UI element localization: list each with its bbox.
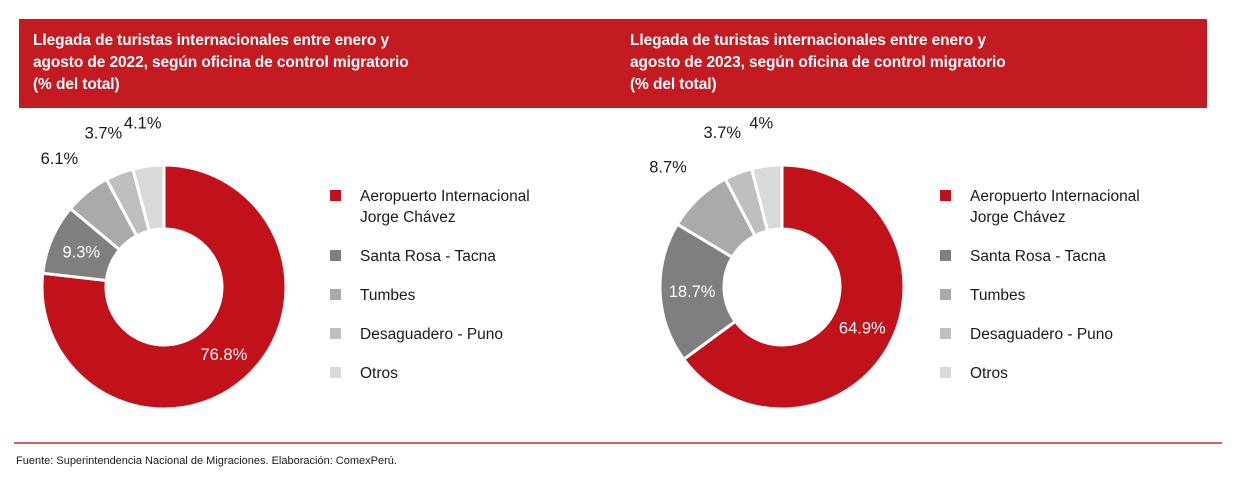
slice-value-label: 64.9% bbox=[839, 320, 886, 338]
legend-item-label: Otros bbox=[360, 363, 398, 384]
legend-item[interactable]: Aeropuerto Internacional Jorge Chávez bbox=[940, 186, 1210, 228]
legend-item[interactable]: Tumbes bbox=[940, 285, 1210, 306]
slice-value-label: 3.7% bbox=[85, 125, 123, 143]
slice-value-label: 8.7% bbox=[649, 158, 687, 176]
header-banner: Llegada de turistas internacionales entr… bbox=[19, 19, 1207, 108]
donut-chart-2022: 76.8%9.3%6.1%3.7%4.1% bbox=[14, 108, 314, 438]
legend-swatch-icon bbox=[940, 367, 951, 378]
legend-swatch-icon bbox=[940, 289, 951, 300]
legend-swatch-icon bbox=[940, 328, 951, 339]
legend-item[interactable]: Aeropuerto Internacional Jorge Chávez bbox=[330, 186, 600, 228]
legend-item-label: Desaguadero - Puno bbox=[970, 324, 1113, 345]
legend-item[interactable]: Santa Rosa - Tacna bbox=[330, 246, 600, 267]
charts-area: 76.8%9.3%6.1%3.7%4.1% Aeropuerto Interna… bbox=[0, 108, 1236, 438]
chart-title-2022: Llegada de turistas internacionales entr… bbox=[33, 30, 613, 96]
legend-item[interactable]: Otros bbox=[940, 363, 1210, 384]
chart-panel-2023: 64.9%18.7%8.7%3.7%4% Aeropuerto Internac… bbox=[618, 108, 1236, 438]
legend-swatch-icon bbox=[940, 250, 951, 261]
donut-chart-2023: 64.9%18.7%8.7%3.7%4% bbox=[632, 108, 932, 438]
legend-item-label: Tumbes bbox=[970, 285, 1025, 306]
slice-value-label: 4% bbox=[749, 114, 773, 132]
chart-title-2023: Llegada de turistas internacionales entr… bbox=[630, 30, 1207, 96]
header-banner-2022: Llegada de turistas internacionales entr… bbox=[19, 19, 613, 108]
legend-swatch-icon bbox=[940, 190, 951, 201]
legend-item-label: Desaguadero - Puno bbox=[360, 324, 503, 345]
legend-item-label: Tumbes bbox=[360, 285, 415, 306]
legend-2022: Aeropuerto Internacional Jorge ChávezSan… bbox=[330, 186, 600, 402]
footer-divider bbox=[14, 442, 1222, 444]
source-note: Fuente: Superintendencia Nacional de Mig… bbox=[16, 455, 397, 467]
legend-swatch-icon bbox=[330, 250, 341, 261]
legend-swatch-icon bbox=[330, 190, 341, 201]
legend-item[interactable]: Desaguadero - Puno bbox=[940, 324, 1210, 345]
slice-value-label: 18.7% bbox=[669, 283, 716, 301]
legend-item-label: Santa Rosa - Tacna bbox=[970, 246, 1106, 267]
slice-value-label: 3.7% bbox=[703, 124, 741, 142]
legend-item[interactable]: Santa Rosa - Tacna bbox=[940, 246, 1210, 267]
legend-item-label: Otros bbox=[970, 363, 1008, 384]
legend-item-label: Santa Rosa - Tacna bbox=[360, 246, 496, 267]
legend-swatch-icon bbox=[330, 289, 341, 300]
slice-value-label: 6.1% bbox=[41, 150, 79, 168]
legend-item-label: Aeropuerto Internacional Jorge Chávez bbox=[970, 186, 1140, 228]
chart-panel-2022: 76.8%9.3%6.1%3.7%4.1% Aeropuerto Interna… bbox=[0, 108, 618, 438]
legend-item-label: Aeropuerto Internacional Jorge Chávez bbox=[360, 186, 530, 228]
legend-item[interactable]: Otros bbox=[330, 363, 600, 384]
legend-2023: Aeropuerto Internacional Jorge ChávezSan… bbox=[940, 186, 1210, 402]
legend-swatch-icon bbox=[330, 367, 341, 378]
legend-swatch-icon bbox=[330, 328, 341, 339]
slice-value-label: 4.1% bbox=[124, 114, 162, 132]
slice-value-label: 76.8% bbox=[201, 346, 248, 364]
legend-item[interactable]: Tumbes bbox=[330, 285, 600, 306]
header-banner-2023: Llegada de turistas internacionales entr… bbox=[613, 19, 1207, 108]
slice-value-label: 9.3% bbox=[62, 244, 100, 262]
legend-item[interactable]: Desaguadero - Puno bbox=[330, 324, 600, 345]
